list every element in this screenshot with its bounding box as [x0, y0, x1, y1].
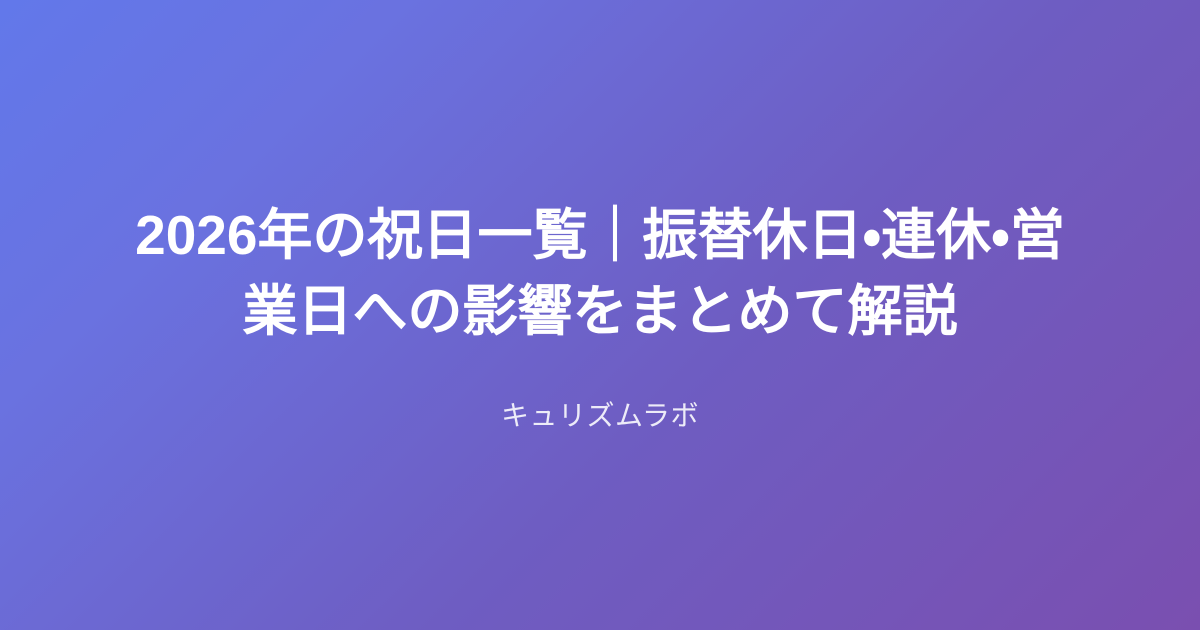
site-name: キュリズムラボ [96, 349, 1104, 433]
og-image-card: 2026年の祝日一覧｜振替休日・連休・営業日への影響をまとめて解説 キュリズムラ… [0, 0, 1200, 630]
page-title: 2026年の祝日一覧｜振替休日・連休・営業日への影響をまとめて解説 [116, 197, 1084, 349]
card-content: 2026年の祝日一覧｜振替休日・連休・営業日への影響をまとめて解説 キュリズムラ… [0, 0, 1200, 630]
